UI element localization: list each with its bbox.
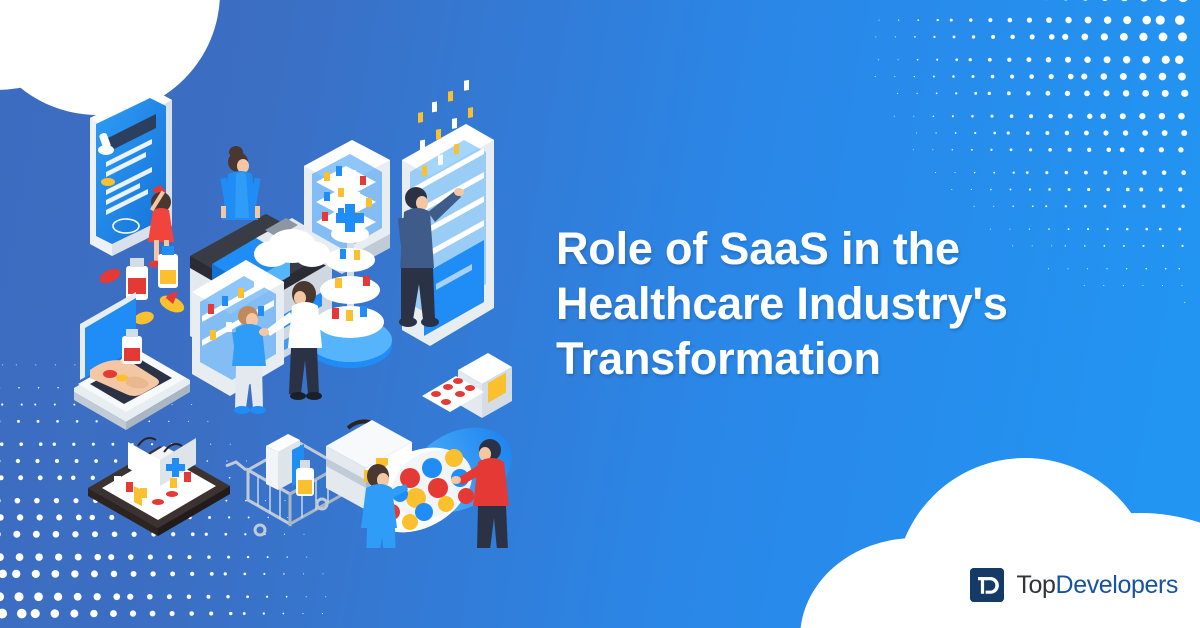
headline-line-3: Transformation — [556, 332, 1076, 387]
headline-line-2: Healthcare Industry's — [556, 277, 1076, 332]
shelf-with-two-customers — [192, 260, 322, 414]
logo-word-developers: Developers — [1056, 571, 1178, 599]
page-title: Role of SaaS in the Healthcare Industry'… — [556, 222, 1076, 387]
tablet-with-shopping-bag — [88, 438, 230, 536]
pharmacist-at-counter — [220, 146, 260, 220]
promo-banner: Role of SaaS in the Healthcare Industry'… — [0, 0, 1200, 628]
healthcare-illustration — [60, 78, 530, 548]
td-monogram-icon — [970, 568, 1004, 602]
logo-word-top: Top — [1016, 571, 1055, 599]
shopping-cart — [226, 434, 340, 535]
topdevelopers-logo[interactable]: TopDevelopers — [970, 568, 1178, 602]
logo-wordmark: TopDevelopers — [1016, 571, 1178, 600]
cloud-bottom-right — [800, 458, 1200, 628]
laptop-with-hand — [74, 292, 190, 430]
headline-line-1: Role of SaaS in the — [556, 222, 1076, 277]
